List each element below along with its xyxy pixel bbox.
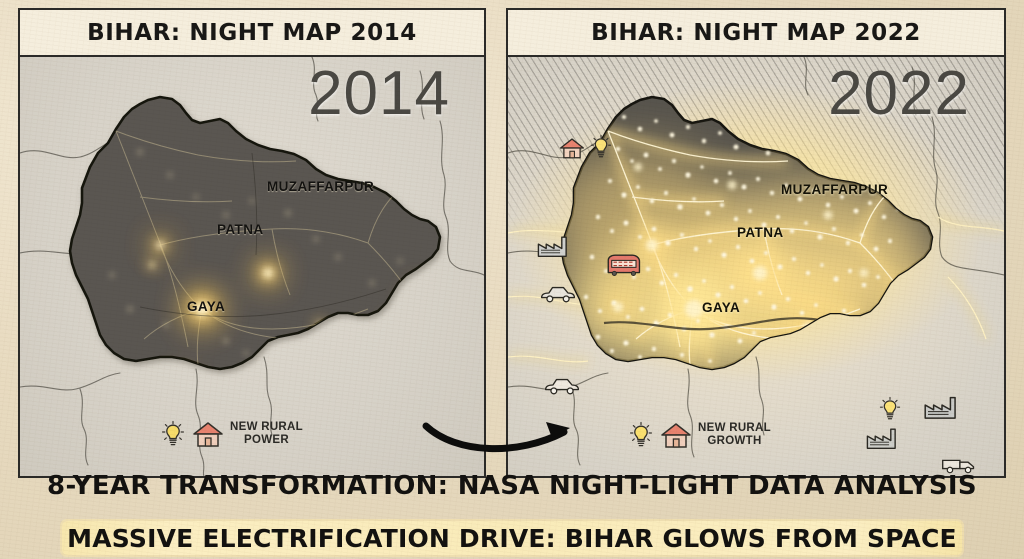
map-area-2014: 2014 [20, 57, 484, 476]
house-icon [192, 419, 224, 449]
legend-label-new-rural-growth: NEW RURAL GROWTH [698, 422, 771, 448]
year-label-2014: 2014 [308, 63, 450, 125]
caption-text: 8-YEAR TRANSFORMATION: NASA NIGHT-LIGHT … [47, 471, 977, 501]
legend-line-2: GROWTH [698, 435, 771, 448]
legend-new-rural-growth: NEW RURAL GROWTH [628, 420, 771, 450]
city-label-muzaffarpur-2022: MUZAFFARPUR [781, 182, 888, 197]
house-icon [559, 135, 585, 161]
headline-text: MASSIVE ELECTRIFICATION DRIVE: BIHAR GLO… [67, 524, 957, 553]
house-icon [660, 420, 692, 450]
city-label-patna-2022: PATNA [737, 225, 784, 240]
bulb-icon [160, 419, 186, 449]
legend-line-1: NEW RURAL [230, 421, 303, 434]
poster-canvas: BIHAR: NIGHT MAP 2014 [0, 0, 1024, 559]
headline-banner: MASSIVE ELECTRIFICATION DRIVE: BIHAR GLO… [62, 521, 962, 555]
bulb-icon [878, 395, 902, 423]
legend-label-new-rural-power: NEW RURAL POWER [230, 421, 303, 447]
panel-night-map-2022: BIHAR: NIGHT MAP 2022 [506, 8, 1006, 478]
train-icon [602, 250, 644, 276]
legend-line-2: POWER [230, 434, 303, 447]
city-label-muzaffarpur-2014: MUZAFFARPUR [267, 179, 374, 194]
panel-header-2022: BIHAR: NIGHT MAP 2022 [508, 10, 1004, 57]
panel-title-2022: BIHAR: NIGHT MAP 2022 [591, 20, 921, 46]
factory-icon [922, 392, 962, 420]
legend-line-1: NEW RURAL [698, 422, 771, 435]
car-icon [542, 374, 582, 396]
legend-new-rural-power: NEW RURAL POWER [160, 419, 303, 449]
bulb-icon [589, 133, 613, 161]
factory-icon [864, 424, 902, 450]
city-label-patna-2014: PATNA [217, 222, 264, 237]
year-label-2022: 2022 [828, 63, 970, 125]
panel-night-map-2014: BIHAR: NIGHT MAP 2014 [18, 8, 486, 478]
car-icon [538, 282, 578, 304]
bulb-icon [628, 420, 654, 450]
city-label-gaya-2022: GAYA [702, 300, 740, 315]
factory-icon [535, 232, 573, 258]
city-label-gaya-2014: GAYA [187, 299, 225, 314]
panel-title-2014: BIHAR: NIGHT MAP 2014 [87, 20, 417, 46]
caption-strip: 8-YEAR TRANSFORMATION: NASA NIGHT-LIGHT … [18, 455, 1006, 517]
panel-header-2014: BIHAR: NIGHT MAP 2014 [20, 10, 484, 57]
